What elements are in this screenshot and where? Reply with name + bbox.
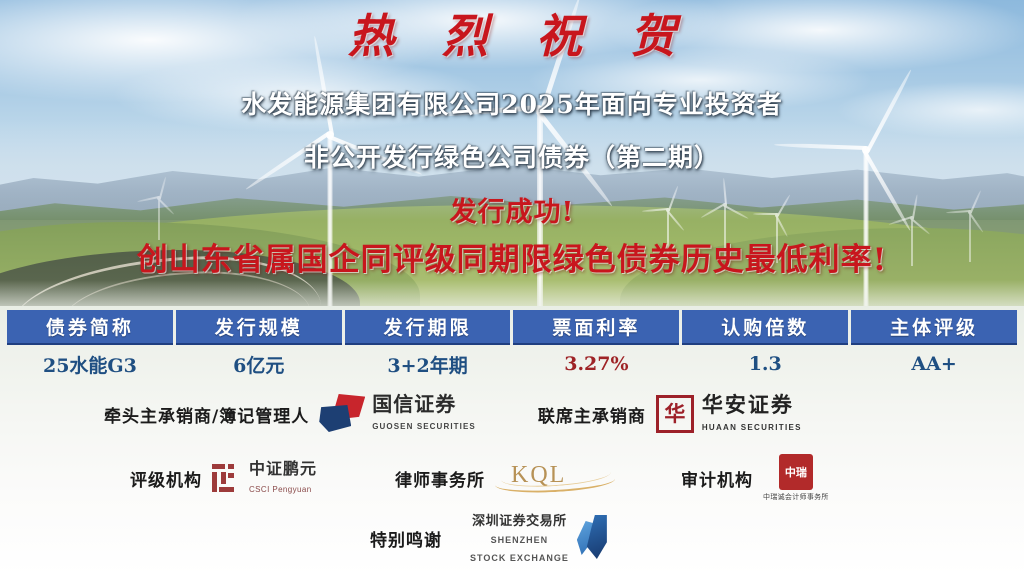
table-header-cell: 发行规模 [176,310,342,345]
table-header-cell: 认购倍数 [682,310,848,345]
lead-underwriter-group: 牵头主承销商/簿记管理人 国信证券 GUOSEN SECURITIES [104,394,476,434]
audit-firm-group: 审计机构 中瑞 中瑞诚会计师事务所 [681,454,829,502]
table-cell-issuer-rating: AA+ [851,345,1017,383]
law-firm-group: 律师事务所 KQL [395,460,615,496]
guosen-mark-icon [319,394,365,434]
rating-agency-group: 评级机构 中证鹏元 CSCI Pengyuan [130,460,317,497]
law-firm-label: 律师事务所 [395,466,485,491]
subtitle-line-2: 非公开发行绿色公司债券（第二期） [0,138,1024,174]
table-cell-tenor: 3+2年期 [345,345,511,383]
guosen-name-en: GUOSEN SECURITIES [372,422,476,431]
shenzhen-stock-exchange-logo: 深圳证券交易所 SHENZHEN STOCK EXCHANGE [470,510,609,566]
table-header-cell: 主体评级 [851,310,1017,345]
kql-law-firm-logo: KQL [495,460,615,496]
special-thanks-group: 特别鸣谢 深圳证券交易所 SHENZHEN STOCK EXCHANGE [370,510,609,566]
joint-underwriter-label: 联席主承销商 [538,402,646,427]
underwriters-row: 牵头主承销商/簿记管理人 国信证券 GUOSEN SECURITIES 联席主承… [0,388,1024,440]
csci-mark-icon [212,464,242,492]
rating-agency-label: 评级机构 [130,466,202,491]
kql-wordmark: KQL [511,462,566,489]
lead-underwriter-label: 牵头主承销商/簿记管理人 [104,402,309,427]
szse-name-en-line1: SHENZHEN [491,535,549,545]
table-cell-bond-name: 25水能G3 [7,345,173,383]
table-row: 25水能G3 6亿元 3+2年期 3.27% 1.3 AA+ [7,345,1017,383]
table-cell-coupon-rate: 3.27% [513,345,679,383]
guosen-securities-logo: 国信证券 GUOSEN SECURITIES [319,394,476,434]
subtitle-line-1: 水发能源集团有限公司2025年面向专业投资者 [0,85,1024,121]
special-thanks-label: 特别鸣谢 [370,526,442,551]
huaan-name-en: HUAAN SECURITIES [702,423,802,432]
csci-name-cn: 中证鹏元 [249,459,317,478]
special-thanks-row: 特别鸣谢 深圳证券交易所 SHENZHEN STOCK EXCHANGE [0,506,1024,570]
huaan-seal-icon: 华 [656,395,694,433]
table-cell-subscription-multiple: 1.3 [682,345,848,383]
audit-caption: 中瑞诚会计师事务所 [763,492,829,502]
table-header-cell: 发行期限 [345,310,511,345]
bond-summary-table: 债券简称 发行规模 发行期限 票面利率 认购倍数 主体评级 25水能G3 6亿元… [4,310,1020,383]
headline-congratulations: 热 烈 祝 贺 [0,8,1024,64]
congratulations-poster: 热 烈 祝 贺 水发能源集团有限公司2025年面向专业投资者 非公开发行绿色公司… [0,0,1024,576]
joint-underwriter-group: 联席主承销商 华 华安证券 HUAAN SECURITIES [538,394,802,435]
table-header-cell: 债券简称 [7,310,173,345]
service-providers-row: 评级机构 中证鹏元 CSCI Pengyuan 律师事务所 [0,452,1024,504]
audit-firm-label: 审计机构 [681,466,753,491]
csci-name-en: CSCI Pengyuan [249,485,312,494]
audit-seal-icon: 中瑞 [779,454,813,490]
szse-name-cn: 深圳证券交易所 [472,514,567,529]
szse-name-en-line2: STOCK EXCHANGE [470,553,569,563]
zhongruicheng-logo: 中瑞 中瑞诚会计师事务所 [763,454,829,502]
huaan-securities-logo: 华 华安证券 HUAAN SECURITIES [656,394,802,435]
szse-mark-icon [575,515,609,561]
issuance-success-text: 发行成功! [0,190,1024,229]
table-header-cell: 票面利率 [513,310,679,345]
huaan-name-cn: 华安证券 [702,392,794,417]
record-lowest-rate-text: 创山东省属国企同评级同期限绿色债券历史最低利率! [0,234,1024,279]
table-cell-issue-size: 6亿元 [176,345,342,383]
guosen-name-cn: 国信证券 [372,392,456,416]
table-header-row: 债券简称 发行规模 发行期限 票面利率 认购倍数 主体评级 [7,310,1017,345]
csci-pengyuan-logo: 中证鹏元 CSCI Pengyuan [212,460,317,497]
